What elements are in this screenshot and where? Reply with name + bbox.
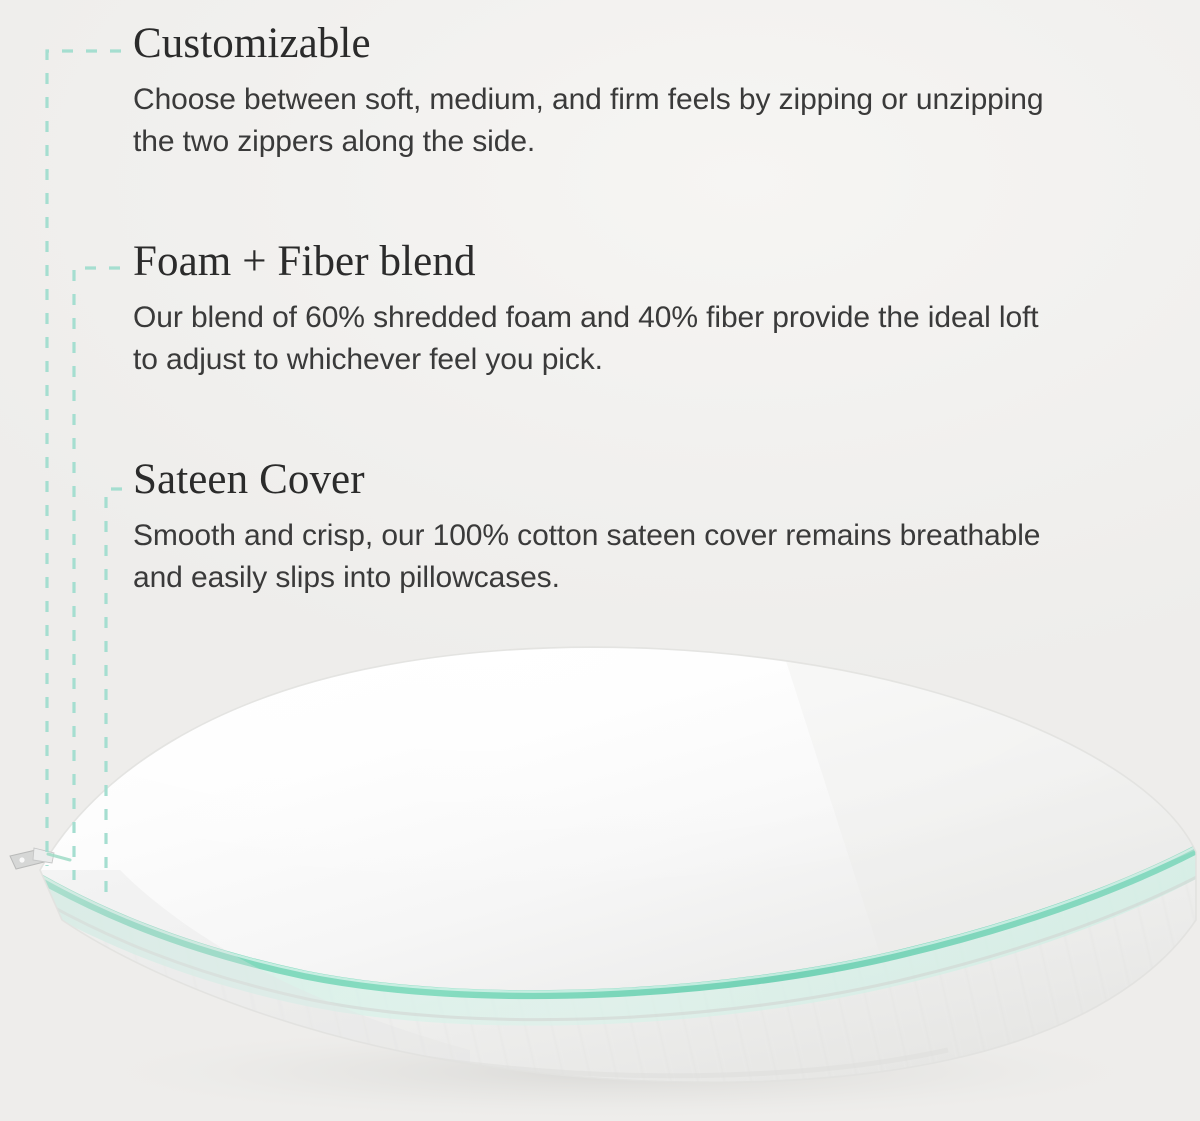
feature-title: Sateen Cover bbox=[133, 458, 1093, 503]
feature-description: Smooth and crisp, our 100% cotton sateen… bbox=[133, 515, 1063, 600]
feature-title: Customizable bbox=[133, 22, 1093, 67]
feature-item-sateen-cover: Sateen Cover Smooth and crisp, our 100% … bbox=[133, 458, 1093, 600]
product-image-pillow bbox=[0, 620, 1200, 1121]
feature-item-customizable: Customizable Choose between soft, medium… bbox=[133, 22, 1093, 164]
feature-description: Choose between soft, medium, and firm fe… bbox=[133, 79, 1063, 164]
feature-item-foam-fiber-blend: Foam + Fiber blend Our blend of 60% shre… bbox=[133, 240, 1093, 382]
infographic-stage: Customizable Choose between soft, medium… bbox=[0, 0, 1200, 1121]
feature-title: Foam + Fiber blend bbox=[133, 240, 1093, 285]
feature-description: Our blend of 60% shredded foam and 40% f… bbox=[133, 297, 1063, 382]
